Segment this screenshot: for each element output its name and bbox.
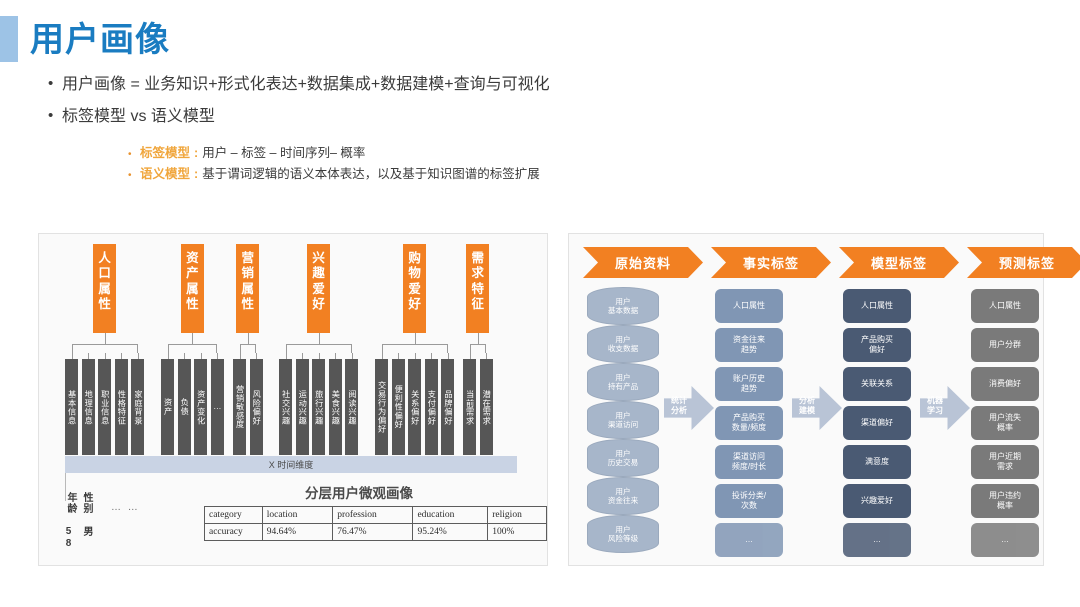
tag-chip-line: 用户违约 [989, 491, 1021, 501]
tag-chip-line: 概率 [997, 501, 1013, 511]
cylinder-label-line: 风险等级 [608, 534, 638, 543]
mini-stat-ellipsis: … … [111, 502, 140, 513]
connector-bracket [72, 344, 138, 353]
tag-chip-line: 用户流失 [989, 413, 1021, 423]
bullet-item: • 标签模型 vs 语义模型 [48, 108, 215, 126]
panel-caption: 分层用户微观画像 [305, 482, 413, 502]
tag-chip[interactable]: 关联关系 [843, 367, 911, 401]
cylinder-label-line: 收支数据 [608, 344, 638, 353]
tag-chip-line: 趋势 [741, 345, 757, 355]
connector-stem [248, 333, 249, 344]
data-source-cylinder[interactable]: 用户历史交易 [587, 439, 659, 477]
bullet-item: • 用户画像 = 业务知识+形式化表达+数据集成+数据建模+查询与可视化 [48, 76, 550, 94]
table-cell: 95.24% [413, 524, 488, 541]
connector-bracket [240, 344, 257, 353]
tag-chip[interactable]: 产品购买数量/频度 [715, 406, 783, 440]
table-row: categorylocationprofessioneducationrelig… [205, 507, 547, 524]
category-header-char: 性 [181, 297, 204, 312]
pipeline-stage-2[interactable]: 事实标签 [711, 247, 831, 278]
tag-chip-line: 账户历史 [733, 374, 765, 384]
table-row: accuracy94.64%76.47%95.24%100% [205, 524, 547, 541]
category-header-购物爱好: 购物爱好 [403, 244, 426, 333]
page-title: 用户画像 [30, 12, 170, 61]
attribute-label-bar: 品牌偏好 [441, 359, 454, 455]
title-accent-bar [0, 16, 18, 62]
cylinder-label-line: 用户 [615, 449, 630, 458]
sub-bullet-item: • 标签模型 : 用户 – 标签 – 时间序列– 概率 [128, 142, 365, 161]
cylinder-label-line: 用户 [615, 525, 630, 534]
cylinder-label-line: 基本数据 [608, 306, 638, 315]
bullet-marker: • [48, 76, 62, 91]
category-header-char: 性 [236, 297, 259, 312]
cylinder-label-line: 资金往来 [608, 496, 638, 505]
tag-chip[interactable]: 用户近期需求 [971, 445, 1039, 479]
tag-chip-line: … [1001, 535, 1009, 545]
category-header-营销属性: 营销属性 [236, 244, 259, 333]
attribute-label-bar: 交易行为偏好 [375, 359, 388, 455]
attribute-label-bar: 地理信息 [82, 359, 95, 455]
cylinder-label-line: 渠道访问 [608, 420, 638, 429]
table-cell: 94.64% [262, 524, 332, 541]
category-header-char: 特 [466, 282, 489, 297]
data-source-cylinder[interactable]: 用户资金往来 [587, 477, 659, 515]
attribute-label-bar: 职业信息 [98, 359, 111, 455]
attribute-label-bar: 关系偏好 [408, 359, 421, 455]
tag-chip[interactable]: 消费偏好 [971, 367, 1039, 401]
process-arrow-label: 机器学习 [921, 396, 949, 415]
attribute-label-bar: 负债 [178, 359, 191, 455]
category-header-char: 营 [236, 251, 259, 266]
connector-stem [192, 333, 193, 344]
attribute-label-bar: 当前需求 [463, 359, 476, 455]
sub-bullet-marker: • [128, 149, 140, 160]
table-cell: education [413, 507, 488, 524]
data-source-cylinder[interactable]: 用户持有产品 [587, 363, 659, 401]
tag-chip[interactable]: … [971, 523, 1039, 557]
sub-bullet-text: 基于谓词逻辑的语义本体表达，以及基于知识图谱的标签扩展 [202, 163, 540, 182]
category-header-兴趣爱好: 兴趣爱好 [307, 244, 330, 333]
accuracy-table: categorylocationprofessioneducationrelig… [204, 506, 547, 541]
tag-chip[interactable]: … [843, 523, 911, 557]
tag-chip-line: 满意度 [865, 457, 889, 467]
attribute-label-bar: 营销敏感度 [233, 359, 246, 455]
mini-stat-header-age: 年龄 [63, 492, 78, 514]
tag-chip[interactable]: 产品购买偏好 [843, 328, 911, 362]
process-arrow-label-line: 分析 [793, 396, 821, 406]
tag-chip-line: 产品购买 [861, 335, 893, 345]
connector-stem [415, 333, 416, 344]
category-header-char: 物 [403, 266, 426, 281]
attribute-label-bar: 支付偏好 [425, 359, 438, 455]
mini-stat-value-gender: 男 [79, 526, 94, 537]
category-header-char: 销 [236, 266, 259, 281]
process-arrow-label-line: 建模 [793, 406, 821, 416]
data-source-cylinder[interactable]: 用户风险等级 [587, 515, 659, 553]
bullet-text: 用户画像 = 业务知识+形式化表达+数据集成+数据建模+查询与可视化 [62, 76, 550, 94]
attribute-label-bar: 性格特征 [115, 359, 128, 455]
connector-stem [478, 333, 479, 344]
table-cell: category [205, 507, 263, 524]
category-header-char: 趣 [307, 266, 330, 281]
tag-chip[interactable]: … [715, 523, 783, 557]
cylinder-label-line: 用户 [615, 411, 630, 420]
tag-chip[interactable]: 渠道偏好 [843, 406, 911, 440]
attribute-label-bar: 运动兴趣 [296, 359, 309, 455]
tag-chip-line: 关联关系 [861, 379, 893, 389]
category-header-char: 购 [403, 251, 426, 266]
data-source-cylinder[interactable]: 用户基本数据 [587, 287, 659, 325]
sub-bullet-marker: • [128, 170, 140, 181]
tag-chip-line: 频度/时长 [732, 462, 766, 472]
tag-chip[interactable]: 人口属性 [715, 289, 783, 323]
connector-stem [319, 333, 320, 344]
category-header-char: 征 [466, 297, 489, 312]
connector-bracket [168, 344, 218, 353]
category-header-char: 求 [466, 266, 489, 281]
tag-chip-line: 用户分群 [989, 340, 1021, 350]
category-header-char: 口 [93, 266, 116, 281]
category-header-char: 属 [93, 282, 116, 297]
attribute-label-bar: 便利性偏好 [392, 359, 405, 455]
tag-chip-line: 偏好 [869, 345, 885, 355]
tag-chip-line: 投诉分类/ [732, 491, 766, 501]
category-header-char: 好 [403, 297, 426, 312]
tag-chip-line: … [745, 535, 753, 545]
tag-chip-line: 渠道访问 [733, 452, 765, 462]
tag-chip[interactable]: 资金往来趋势 [715, 328, 783, 362]
pipeline-stage-4[interactable]: 预测标签 [967, 247, 1080, 278]
user-profile-taxonomy-panel: 人口属性基本信息地理信息职业信息性格特征家庭背景资产属性资产负债资产变化…营销属… [38, 233, 548, 566]
mini-stat-value-age: 58 [63, 526, 74, 550]
sub-bullet-key: 语义模型 [140, 163, 190, 182]
tag-chip[interactable]: 兴趣爱好 [843, 484, 911, 518]
connector-bracket [382, 344, 448, 353]
tag-chip-line: 概率 [997, 423, 1013, 433]
attribute-label-bar: 社交兴趣 [279, 359, 292, 455]
sub-bullet-key: 标签模型 [140, 142, 190, 161]
tag-chip-line: 人口属性 [861, 301, 893, 311]
tag-chip-line: 兴趣爱好 [861, 496, 893, 506]
table-cell: 100% [488, 524, 547, 541]
tag-pipeline-panel: 原始资料事实标签模型标签预测标签用户基本数据用户收支数据用户持有产品用户渠道访问… [568, 233, 1044, 566]
time-dimension-axis: X 时间维度 [65, 456, 517, 473]
tag-chip-line: 数量/频度 [732, 423, 766, 433]
tag-chip-line: … [873, 535, 881, 545]
table-cell: location [262, 507, 332, 524]
attribute-label-bar: 潜在需求 [480, 359, 493, 455]
bullet-text: 标签模型 vs 语义模型 [62, 108, 215, 126]
tag-chip-line: 人口属性 [733, 301, 765, 311]
tag-chip[interactable]: 用户流失概率 [971, 406, 1039, 440]
tag-chip[interactable]: 满意度 [843, 445, 911, 479]
pipeline-stage-1[interactable]: 原始资料 [583, 247, 703, 278]
connector-stem [105, 333, 106, 344]
category-header-char: 性 [93, 297, 116, 312]
attribute-label-bar: 旅行兴趣 [312, 359, 325, 455]
category-header-char: 属 [181, 282, 204, 297]
tag-chip[interactable]: 渠道访问频度/时长 [715, 445, 783, 479]
mini-stat-header-gender: 性别 [79, 492, 94, 514]
attribute-label-bar: … [211, 359, 224, 455]
data-source-cylinder[interactable]: 用户渠道访问 [587, 401, 659, 439]
process-arrow-label: 分析建模 [793, 396, 821, 415]
table-cell: profession [333, 507, 413, 524]
category-header-char: 需 [466, 251, 489, 266]
tag-chip-line: 渠道偏好 [861, 418, 893, 428]
cylinder-label-line: 用户 [615, 335, 630, 344]
connector-bracket [286, 344, 352, 353]
category-header-人口属性: 人口属性 [93, 244, 116, 333]
attribute-label-bar: 基本信息 [65, 359, 78, 455]
process-arrow-label: 统计分析 [665, 396, 693, 415]
process-arrow-label-line: 学习 [921, 406, 949, 416]
tag-chip[interactable]: 人口属性 [843, 289, 911, 323]
cylinder-label-line: 历史交易 [608, 458, 638, 467]
category-header-char: 人 [93, 251, 116, 266]
attribute-label-bar: 美食兴趣 [329, 359, 342, 455]
pipeline-stage-3[interactable]: 模型标签 [839, 247, 959, 278]
cylinder-label-line: 用户 [615, 487, 630, 496]
tag-chip-line: 次数 [741, 501, 757, 511]
sub-bullet-separator: : [194, 146, 198, 160]
process-arrow-label-line: 机器 [921, 396, 949, 406]
attribute-label-bar: 风险偏好 [250, 359, 263, 455]
category-header-char: 好 [307, 297, 330, 312]
table-cell: accuracy [205, 524, 263, 541]
bullet-marker: • [48, 108, 62, 123]
tag-chip-line: 需求 [997, 462, 1013, 472]
tag-chip[interactable]: 用户分群 [971, 328, 1039, 362]
tag-chip-line: 趋势 [741, 384, 757, 394]
category-header-char: 属 [236, 282, 259, 297]
cylinder-label-line: 用户 [615, 373, 630, 382]
process-arrow-label-line: 统计 [665, 396, 693, 406]
attribute-label-bar: 资产 [161, 359, 174, 455]
table-cell: 76.47% [333, 524, 413, 541]
cylinder-label-line: 用户 [615, 297, 630, 306]
tag-chip[interactable]: 投诉分类/次数 [715, 484, 783, 518]
attribute-label-bar: 阅读兴趣 [345, 359, 358, 455]
category-header-资产属性: 资产属性 [181, 244, 204, 333]
tag-chip[interactable]: 用户违约概率 [971, 484, 1039, 518]
category-header-char: 产 [181, 266, 204, 281]
tag-chip-line: 人口属性 [989, 301, 1021, 311]
tag-chip[interactable]: 账户历史趋势 [715, 367, 783, 401]
table-cell: religion [488, 507, 547, 524]
sub-bullet-text: 用户 – 标签 – 时间序列– 概率 [202, 142, 365, 161]
attribute-label-bar: 家庭背景 [131, 359, 144, 455]
tag-chip-line: 产品购买 [733, 413, 765, 423]
connector-bracket [470, 344, 487, 353]
tag-chip-line: 资金往来 [733, 335, 765, 345]
tag-chip[interactable]: 人口属性 [971, 289, 1039, 323]
category-header-char: 爱 [307, 282, 330, 297]
cylinder-label-line: 持有产品 [608, 382, 638, 391]
sub-bullet-item: • 语义模型 : 基于谓词逻辑的语义本体表达，以及基于知识图谱的标签扩展 [128, 163, 540, 182]
attribute-label-bar: 资产变化 [194, 359, 207, 455]
tag-chip-line: 用户近期 [989, 452, 1021, 462]
category-header-需求特征: 需求特征 [466, 244, 489, 333]
category-header-char: 爱 [403, 282, 426, 297]
tag-chip-line: 消费偏好 [989, 379, 1021, 389]
sub-bullet-separator: : [194, 167, 198, 181]
data-source-cylinder[interactable]: 用户收支数据 [587, 325, 659, 363]
category-header-char: 兴 [307, 251, 330, 266]
process-arrow-label-line: 分析 [665, 406, 693, 416]
category-header-char: 资 [181, 251, 204, 266]
